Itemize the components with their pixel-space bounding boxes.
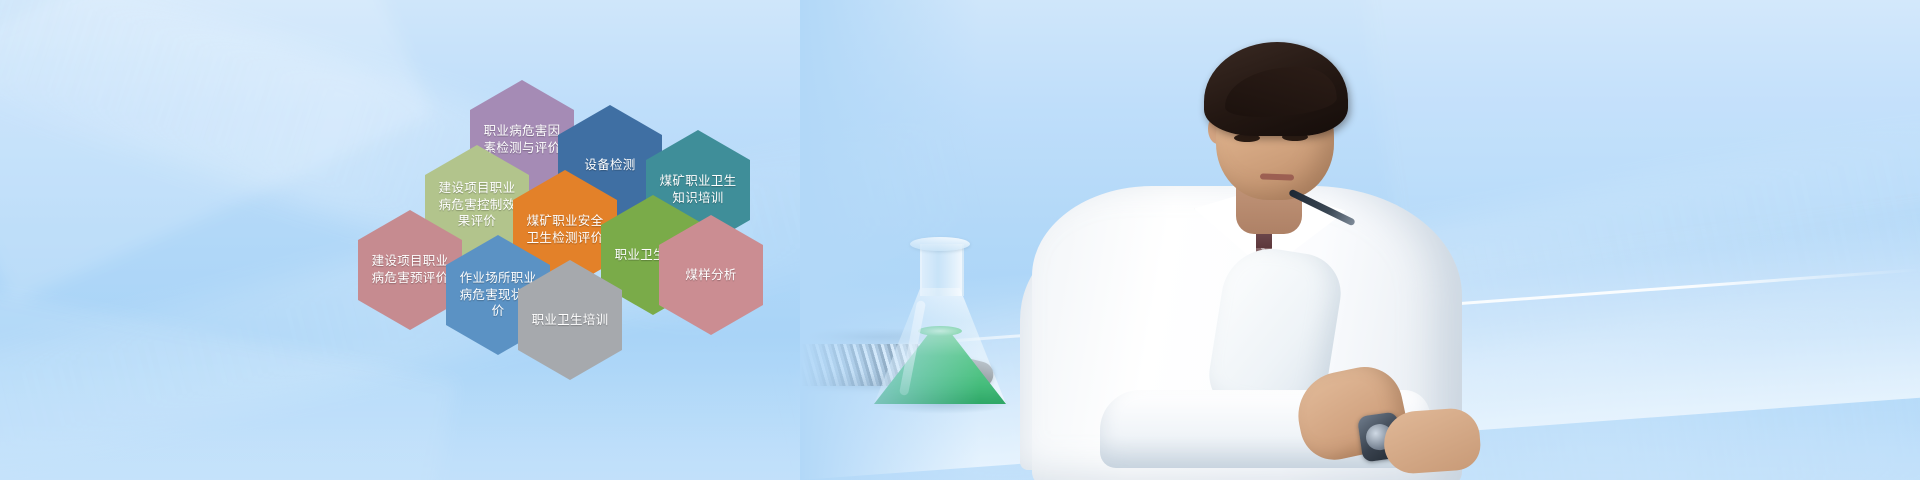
- hex-label: 职业病危害因素检测与评价: [479, 123, 565, 157]
- hex-label: 建设项目职业病危害控制效果评价: [434, 180, 520, 231]
- service-hexagon-cluster: 职业病危害因素检测与评价设备检测煤矿职业卫生知识培训建设项目职业病危害控制效果评…: [330, 50, 850, 350]
- flask-rim: [910, 237, 970, 251]
- hex-label: 设备检测: [567, 157, 653, 174]
- hex-label: 职业卫生培训: [527, 312, 613, 329]
- researcher-figure: [980, 18, 1500, 480]
- flask-liquid-surface: [918, 326, 962, 336]
- hex-label: 煤矿职业安全卫生检测评价: [522, 213, 608, 247]
- erlenmeyer-flask: [874, 244, 1006, 404]
- hex-label: 煤样分析: [668, 267, 754, 284]
- banner: 职业病危害因素检测与评价设备检测煤矿职业卫生知识培训建设项目职业病危害控制效果评…: [0, 0, 1920, 480]
- flask-neck: [920, 244, 964, 296]
- hex-label: 煤矿职业卫生知识培训: [655, 173, 741, 207]
- mouth: [1260, 173, 1294, 180]
- lab-researcher-photo: [800, 0, 1920, 480]
- hex-label: 建设项目职业病危害预评价: [367, 253, 453, 287]
- resting-hand: [1382, 407, 1482, 476]
